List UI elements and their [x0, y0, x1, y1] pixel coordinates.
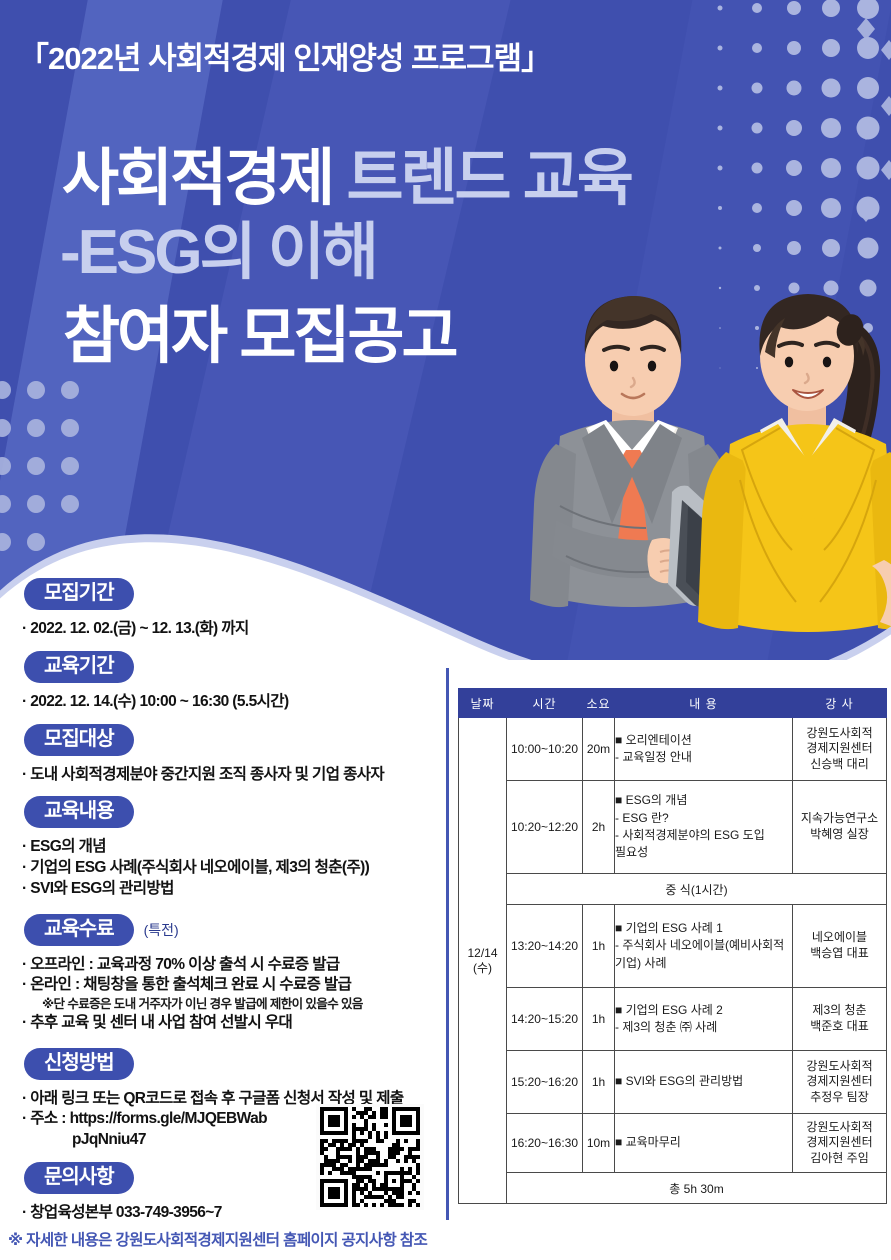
detail-line: · 도내 사회적경제분야 중간지원 조직 종사자 및 기업 종사자 — [22, 765, 448, 786]
section-badge: 신청방법 — [24, 1048, 134, 1080]
schedule-lecturer-cell: 강원도사회적 경제지원센터 신승백 대리 — [793, 718, 887, 781]
schedule-header-cell: 소요 — [583, 689, 615, 718]
section-badge-row: 교육내용 — [24, 796, 448, 828]
schedule-topic-cell: ■ 기업의 ESG 사례 2 - 제3의 청춘 ㈜ 사례 — [615, 988, 793, 1051]
detail-line: · 기업의 ESG 사례(주식회사 네오에이블, 제3의 청춘(주)) — [22, 858, 448, 879]
schedule-break-row: 중 식(1시간) — [459, 874, 887, 905]
schedule-topic-cell: ■ ESG의 개념 - ESG 란? - 사회적경제분야의 ESG 도입 필요성 — [615, 781, 793, 874]
schedule-total-row: 총 5h 30m — [459, 1173, 887, 1204]
detail-line: · 2022. 12. 02.(금) ~ 12. 13.(화) 까지 — [22, 619, 448, 640]
section-badge-row: 신청방법 — [24, 1048, 448, 1080]
schedule-row: 14:20~15:201h■ 기업의 ESG 사례 2 - 제3의 청춘 ㈜ 사… — [459, 988, 887, 1051]
detail-line: · 2022. 12. 14.(수) 10:00 ~ 16:30 (5.5시간) — [22, 692, 448, 713]
section-badge-row: 모집기간 — [24, 578, 448, 610]
schedule-table-container: 날짜시간소요내 용강 사 12/14 (수)10:00~10:2020m■ 오리… — [458, 688, 886, 1204]
section-badge-row: 교육수료(특전) — [24, 914, 448, 946]
schedule-lecturer-cell: 강원도사회적 경제지원센터 추정우 팀장 — [793, 1051, 887, 1114]
schedule-time-cell: 14:20~15:20 — [507, 988, 583, 1051]
schedule-row: 10:20~12:202h■ ESG의 개념 - ESG 란? - 사회적경제분… — [459, 781, 887, 874]
schedule-lecturer-cell: 강원도사회적 경제지원센터 김아현 주임 — [793, 1114, 887, 1173]
section-badge: 모집기간 — [24, 578, 134, 610]
section-badge-row: 모집대상 — [24, 724, 448, 756]
schedule-time-cell: 16:20~16:30 — [507, 1114, 583, 1173]
section-badge: 문의사항 — [24, 1162, 134, 1194]
schedule-header-row: 날짜시간소요내 용강 사 — [459, 689, 887, 718]
section-badge: 교육내용 — [24, 796, 134, 828]
schedule-topic-cell: ■ 기업의 ESG 사례 1 - 주식회사 네오에이블(예비사회적 기업) 사례 — [615, 905, 793, 988]
footnote-text: ※ 자세한 내용은 강원도사회적경제지원센터 홈페이지 공지사항 참조 — [8, 1228, 427, 1250]
schedule-header-cell: 강 사 — [793, 689, 887, 718]
schedule-duration-cell: 20m — [583, 718, 615, 781]
schedule-duration-cell: 2h — [583, 781, 615, 874]
section-badge-row: 교육기간 — [24, 651, 448, 683]
schedule-duration-cell: 1h — [583, 1051, 615, 1114]
schedule-table: 날짜시간소요내 용강 사 12/14 (수)10:00~10:2020m■ 오리… — [458, 688, 887, 1204]
schedule-header-cell: 날짜 — [459, 689, 507, 718]
section-badge: 교육기간 — [24, 651, 134, 683]
schedule-topic-cell: ■ 교육마무리 — [615, 1114, 793, 1173]
section-badge-note: (특전) — [144, 920, 179, 940]
schedule-header-cell: 내 용 — [615, 689, 793, 718]
vertical-divider — [446, 668, 449, 1220]
schedule-row: 16:20~16:3010m■ 교육마무리강원도사회적 경제지원센터 김아현 주… — [459, 1114, 887, 1173]
hero-banner: 「2022년 사회적경제 인재양성 프로그램」 사회적경제 트렌드 교육 -ES… — [0, 0, 891, 660]
schedule-time-cell: 10:00~10:20 — [507, 718, 583, 781]
schedule-time-cell: 13:20~14:20 — [507, 905, 583, 988]
schedule-time-cell: 15:20~16:20 — [507, 1051, 583, 1114]
schedule-duration-cell: 1h — [583, 988, 615, 1051]
schedule-row: 12/14 (수)10:00~10:2020m■ 오리엔테이션 - 교육일정 안… — [459, 718, 887, 781]
schedule-lecturer-cell: 네오에이블 백승엽 대표 — [793, 905, 887, 988]
schedule-duration-cell: 10m — [583, 1114, 615, 1173]
qr-code[interactable] — [316, 1104, 424, 1210]
hero-background-graphic — [0, 0, 891, 660]
qr-code-image — [319, 1107, 421, 1207]
break-label: 중 식(1시간) — [507, 874, 887, 905]
schedule-row: 15:20~16:201h■ SVI와 ESG의 관리방법강원도사회적 경제지원… — [459, 1051, 887, 1114]
schedule-lecturer-cell: 제3의 청춘 백준호 대표 — [793, 988, 887, 1051]
schedule-duration-cell: 1h — [583, 905, 615, 988]
schedule-header-cell: 시간 — [507, 689, 583, 718]
schedule-topic-cell: ■ 오리엔테이션 - 교육일정 안내 — [615, 718, 793, 781]
schedule-row: 13:20~14:201h■ 기업의 ESG 사례 1 - 주식회사 네오에이블… — [459, 905, 887, 988]
detail-line: · 추후 교육 및 센터 내 사업 참여 선발시 우대 — [22, 1013, 448, 1034]
schedule-topic-cell: ■ SVI와 ESG의 관리방법 — [615, 1051, 793, 1114]
schedule-time-cell: 10:20~12:20 — [507, 781, 583, 874]
section-badge: 교육수료 — [24, 914, 134, 946]
poster-root: 「2022년 사회적경제 인재양성 프로그램」 사회적경제 트렌드 교육 -ES… — [0, 0, 891, 1260]
schedule-lecturer-cell: 지속가능연구소 박혜영 실장 — [793, 781, 887, 874]
detail-line: · 온라인 : 채팅창을 통한 출석체크 완료 시 수료증 발급 — [22, 975, 448, 996]
detail-line: · 오프라인 : 교육과정 70% 이상 출석 시 수료증 발급 — [22, 955, 448, 976]
detail-line: ※단 수료증은 도내 거주자가 이닌 경우 발급에 제한이 있을수 있음 — [42, 996, 448, 1013]
detail-line: · SVI와 ESG의 관리방법 — [22, 879, 448, 900]
section-badge: 모집대상 — [24, 724, 134, 756]
detail-line: · ESG의 개념 — [22, 837, 448, 858]
total-label: 총 5h 30m — [507, 1173, 887, 1204]
schedule-date-cell: 12/14 (수) — [459, 718, 507, 1204]
